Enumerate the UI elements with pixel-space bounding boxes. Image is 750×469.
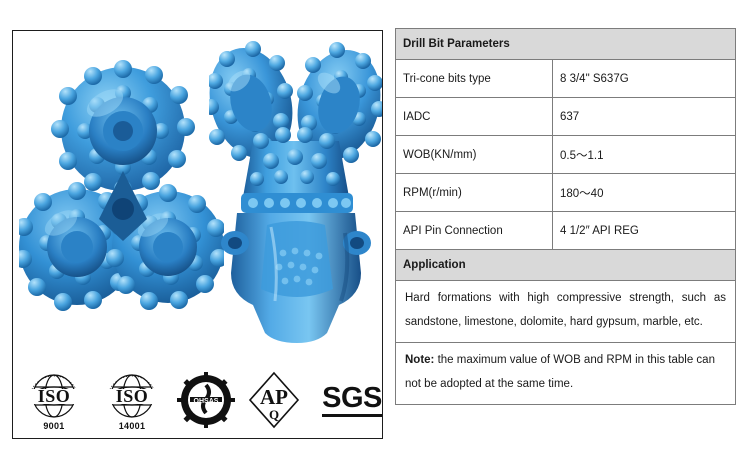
api-monogram-icon: AP Q [247, 371, 301, 429]
table-row: RPM(r/min) 180～40 [396, 174, 736, 212]
row-label-wob: WOB(KN/mm) [396, 136, 553, 174]
iso-9001-number: 9001 [21, 421, 87, 431]
table-row: Tri-cone bits type 8 3/4" S637G [396, 60, 736, 98]
product-photo [13, 31, 382, 361]
svg-text:AP: AP [260, 385, 288, 409]
sgs-wordmark-icon: SGS [322, 384, 382, 417]
row-label-rpm: RPM(r/min) [396, 174, 553, 212]
ohsas-logo: OHSAS [177, 372, 235, 428]
certification-logo-strip: ISO 9001 ISO 14001 [13, 362, 382, 438]
ohsas-gear-icon: OHSAS [177, 372, 235, 428]
iso-9001-logo: ISO 9001 [21, 369, 87, 431]
table-row: API Pin Connection 4 1/2″ API REG [396, 212, 736, 250]
iso-14001-number: 14001 [99, 421, 165, 431]
row-value-wob: 0.5～1.1 [553, 136, 736, 174]
application-title: Application [396, 250, 736, 281]
row-value-rpm: 180～40 [553, 174, 736, 212]
svg-text:ISO: ISO [38, 386, 71, 406]
row-label-api-pin-connection: API Pin Connection [396, 212, 553, 250]
svg-text:OHSAS: OHSAS [194, 398, 219, 405]
sgs-logo: SGS [313, 378, 383, 422]
table-row: WOB(KN/mm) 0.5～1.1 [396, 136, 736, 174]
svg-text:ISO: ISO [116, 386, 149, 406]
drill-bit-left-illustration [19, 51, 224, 341]
table-header-row: Drill Bit Parameters [396, 29, 736, 60]
row-value-iadc: 637 [553, 98, 736, 136]
note-cell: Note: the maximum value of WOB and RPM i… [396, 343, 736, 405]
application-text: Hard formations with high compressive st… [396, 281, 736, 343]
api-q-logo: AP Q [247, 371, 301, 429]
note-text: the maximum value of WOB and RPM in this… [405, 354, 715, 390]
application-header-row: Application [396, 250, 736, 281]
iso-14001-logo: ISO 14001 [99, 369, 165, 431]
table-row: IADC 637 [396, 98, 736, 136]
table-title: Drill Bit Parameters [396, 29, 736, 60]
application-body-row: Hard formations with high compressive st… [396, 281, 736, 343]
svg-text:Q: Q [269, 407, 279, 422]
row-label-iadc: IADC [396, 98, 553, 136]
drill-bit-right-illustration [209, 37, 382, 347]
row-value-api-pin-connection: 4 1/2″ API REG [553, 212, 736, 250]
note-row: Note: the maximum value of WOB and RPM i… [396, 343, 736, 405]
row-label-tricone-bits-type: Tri-cone bits type [396, 60, 553, 98]
product-spec-sheet: ISO 9001 ISO 14001 [0, 0, 750, 469]
bit-body-shank [221, 213, 371, 343]
note-label: Note: [405, 354, 434, 366]
drill-bit-parameters-table: Drill Bit Parameters Tri-cone bits type … [395, 28, 736, 405]
row-value-tricone-bits-type: 8 3/4" S637G [553, 60, 736, 98]
product-image-panel: ISO 9001 ISO 14001 [12, 30, 383, 439]
